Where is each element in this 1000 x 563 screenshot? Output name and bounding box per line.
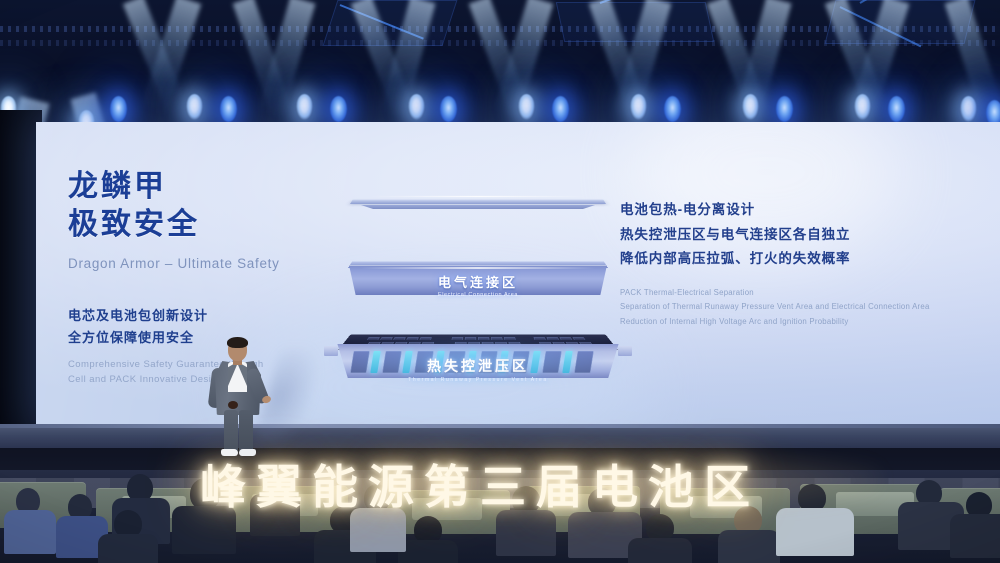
stage-light-fixture: [960, 96, 977, 122]
audience-member: [630, 514, 690, 563]
stage-light-fixture: [664, 96, 681, 122]
audience-member: [6, 488, 56, 548]
exploded-battery-pack-graphic: 电气连接区 Electrical Connection Area: [328, 190, 628, 380]
stage-light-fixture: [552, 96, 569, 122]
slide-right-cn-line1: 电池包热-电分离设计: [620, 198, 970, 223]
audience-member: [400, 516, 456, 563]
ceiling-truss-lighting-rig: [0, 0, 1000, 126]
stage-light-fixture: [110, 96, 127, 122]
presenter-shoe: [239, 449, 256, 456]
stage-light-fixture: [296, 94, 313, 120]
pack-electrical-connection-layer: 电气连接区 Electrical Connection Area: [328, 252, 628, 300]
label-electrical-connection-en: Electrical Connection Area: [328, 292, 628, 298]
presenter-hand: [261, 395, 272, 405]
slide-right-cn-line2: 热失控泄压区与电气连接区各自独立: [620, 223, 970, 248]
audience-member: [952, 492, 1000, 552]
slide-title-cn-line1: 龙鳞甲: [68, 168, 368, 206]
stage-light-fixture: [776, 96, 793, 122]
stage-light-fixture: [630, 94, 647, 120]
label-electrical-connection-cn: 电气连接区: [328, 272, 628, 291]
stage-light-fixture: [186, 94, 203, 120]
stage-light-fixture: [854, 94, 871, 120]
slide-sub-cn-line1: 电芯及电池包创新设计: [68, 305, 368, 327]
stage-light-fixture: [408, 94, 425, 120]
label-thermal-vent-en: Thermal Runaway Pressure Vent Area: [322, 377, 634, 383]
pack-top-cover-layer: [328, 190, 628, 220]
label-thermal-vent-cn: 热失控泄压区: [322, 356, 634, 376]
slide-right-en-line1: PACK Thermal-Electrical Separation: [620, 286, 970, 300]
slide-right-cn-line3: 降低内部高压拉弧、打火的失效概率: [620, 247, 970, 272]
slide-content: 龙鳞甲 极致安全 Dragon Armor – Ultimate Safety …: [36, 122, 1000, 424]
slide-title-en: Dragon Armor – Ultimate Safety: [68, 256, 368, 271]
slide-right-en-line2: Separation of Thermal Runaway Pressure V…: [620, 300, 970, 314]
stage-light-fixture: [888, 96, 905, 122]
stage-light-fixture: [518, 94, 535, 120]
stage-light-fixture: [742, 94, 759, 120]
led-banner-text: 峰翼能源第三届电池区: [200, 451, 840, 517]
led-presentation-screen: 龙鳞甲 极致安全 Dragon Armor – Ultimate Safety …: [36, 122, 1000, 424]
presenter-shoe: [221, 449, 238, 456]
stage-light-fixture: [440, 96, 457, 122]
stage-light-fixture: [330, 96, 347, 122]
slide-right-text-block: 电池包热-电分离设计 热失控泄压区与电气连接区各自独立 降低内部高压拉弧、打火的…: [620, 198, 970, 329]
slide-title-cn-line2: 极致安全: [68, 206, 368, 244]
presenter-figure: [204, 338, 274, 456]
conference-stage-scene: 龙鳞甲 极致安全 Dragon Armor – Ultimate Safety …: [0, 0, 1000, 563]
stage-light-fixture: [220, 96, 237, 122]
audience-member: [100, 510, 156, 563]
slide-right-en-line3: Reduction of Internal High Voltage Arc a…: [620, 315, 970, 329]
